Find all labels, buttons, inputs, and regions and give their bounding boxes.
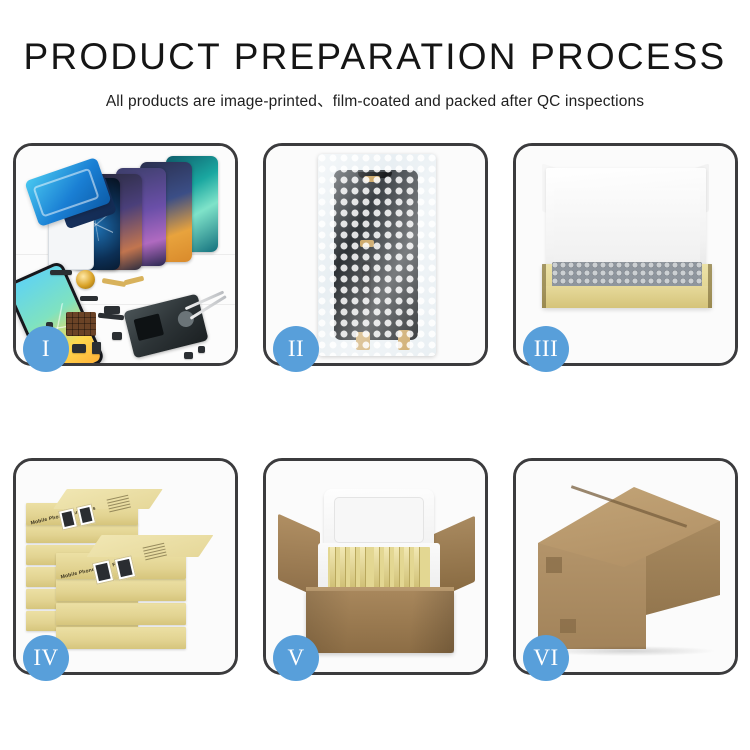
process-step-grid: I II xyxy=(13,143,737,675)
step-badge-3: III xyxy=(523,326,569,372)
foam-box-lid xyxy=(324,489,434,551)
process-step-3[interactable]: III xyxy=(513,143,738,366)
header: PRODUCT PREPARATION PROCESS All products… xyxy=(0,0,750,111)
step-badge-1: I xyxy=(23,326,69,372)
process-step-2[interactable]: II xyxy=(263,143,488,366)
step-badge-6: VI xyxy=(523,635,569,681)
process-step-1[interactable]: I xyxy=(13,143,238,366)
step-badge-4: IV xyxy=(23,635,69,681)
process-step-5[interactable]: V xyxy=(263,458,488,675)
process-step-6[interactable]: VI xyxy=(513,458,738,675)
coil-component xyxy=(76,270,95,289)
page-title: PRODUCT PREPARATION PROCESS xyxy=(0,38,750,77)
carton-tape-lower xyxy=(560,619,576,633)
bubble-wrapped-contents xyxy=(552,262,702,288)
page-subtitle: All products are image-printed、film-coat… xyxy=(0,89,750,111)
step-badge-5: V xyxy=(273,635,319,681)
step-badge-2: II xyxy=(273,326,319,372)
carton-tape-upper xyxy=(546,557,562,573)
bubble-wrap-package xyxy=(318,154,436,356)
process-step-4[interactable]: Mobile Phone Spare Parts Mobile Phone Sp… xyxy=(13,458,238,675)
chip-array xyxy=(66,312,96,336)
carton-flap-left xyxy=(278,514,320,599)
packed-retail-boxes xyxy=(328,547,430,591)
